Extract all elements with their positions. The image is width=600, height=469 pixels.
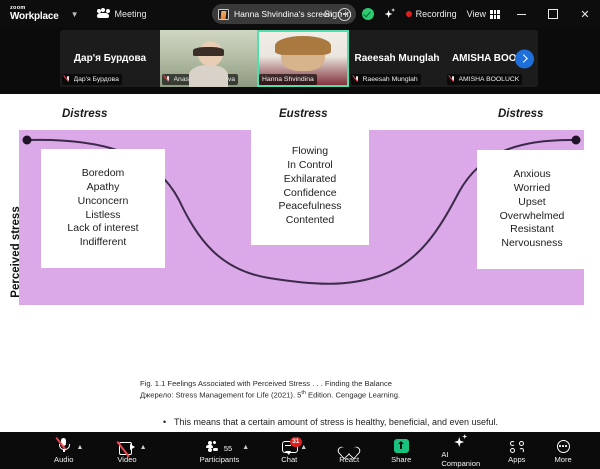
feeling-item: Upset — [518, 196, 545, 210]
feeling-item: Overwhelmed — [500, 210, 565, 224]
video-options-chevron-up-icon[interactable]: ▲ — [140, 444, 147, 451]
zone-label-center: Eustress — [279, 108, 328, 120]
curve-endpoint-left — [23, 136, 32, 145]
participants-control-group: 55 Participants ▲ — [200, 438, 250, 464]
feeling-item: Nervousness — [501, 237, 562, 251]
filmstrip-next-button[interactable] — [515, 49, 534, 68]
ellipsis-circle-icon — [557, 438, 570, 453]
zone-label-left: Distress — [62, 108, 107, 120]
chat-unread-badge: 31 — [290, 437, 302, 447]
tile-chip-name: Anastasiia Niesheva — [174, 76, 236, 83]
participants-options-chevron-up-icon[interactable]: ▲ — [242, 444, 249, 451]
share-label: Share — [391, 455, 411, 464]
maximize-button[interactable] — [542, 0, 564, 28]
feeling-item: Resistant — [510, 223, 554, 237]
shared-screen-slide: Distress Eustress Distress Perceived str… — [0, 94, 600, 432]
caption-line-2: Джерело: Stress Management for Life (202… — [140, 389, 470, 401]
audio-control-group: Audio ▲ — [54, 438, 83, 464]
audio-button[interactable]: Audio — [54, 438, 73, 464]
tile-chip-name: AMISHA BOOLUCK — [459, 76, 520, 83]
feeling-item: Indifferent — [80, 236, 127, 250]
ai-companion-label: AI Companion — [441, 450, 480, 468]
view-menu[interactable]: View — [467, 9, 500, 19]
recording-label: Recording — [416, 9, 457, 19]
camera-off-icon — [119, 438, 135, 453]
tile-display-name: Raeesah Munglah — [350, 53, 443, 64]
chat-button[interactable]: 31 Chat — [281, 438, 297, 464]
tile-display-name: Дар'я Бурдова — [70, 53, 150, 64]
close-button[interactable]: ✕ — [574, 0, 596, 28]
feeling-item: Anxious — [513, 168, 550, 182]
chat-control-group: 31 Chat ▲ — [281, 438, 307, 464]
more-label: More — [554, 455, 571, 464]
tile-name-chip: Дар'я Бурдова — [62, 74, 122, 85]
sparkle-icon — [453, 433, 468, 448]
share-button[interactable]: Share — [391, 438, 411, 464]
feelings-box-eustress: Flowing In Control Exhilarated Confidenc… — [251, 128, 369, 245]
apps-icon — [510, 438, 524, 453]
react-button[interactable]: React — [339, 438, 359, 464]
chat-icon: 31 — [282, 438, 297, 453]
screen-share-label: Hanna Shvindina's screen — [234, 9, 333, 19]
recording-indicator[interactable]: Recording — [406, 9, 457, 19]
participants-count: 55 — [224, 444, 232, 453]
minimize-button[interactable] — [510, 0, 532, 28]
zone-label-right: Distress — [498, 108, 543, 120]
tile-chip-name: Дар'я Бурдова — [74, 76, 119, 83]
ai-sparkle-icon[interactable] — [384, 8, 396, 20]
caption-source-suffix: Edition. Cengage Learning. — [306, 391, 400, 400]
grid-view-icon — [490, 10, 500, 19]
microphone-muted-icon — [65, 76, 71, 84]
feeling-item: Peacefulness — [278, 200, 341, 214]
video-control-group: Video ▲ — [117, 438, 146, 464]
meeting-controls-toolbar: Audio ▲ Video ▲ 55 Participants ▲ — [0, 432, 600, 469]
people-icon — [97, 9, 110, 20]
microphone-muted-icon — [58, 438, 69, 453]
feeling-item: Flowing — [292, 145, 328, 159]
shield-check-icon[interactable] — [362, 8, 374, 20]
zoom-workplace-logo: zoom Workplace — [10, 6, 59, 23]
chevron-down-icon[interactable]: ▼ — [71, 10, 79, 19]
feeling-item: In Control — [287, 159, 333, 173]
audio-label: Audio — [54, 455, 73, 464]
recording-dot-icon — [406, 11, 412, 17]
participants-icon: 55 — [207, 438, 232, 453]
video-tile[interactable]: Raeesah Munglah Raeesah Munglah — [349, 30, 445, 87]
feelings-box-distress-left: Boredom Apathy Unconcern Listless Lack o… — [41, 149, 165, 268]
participants-label: Participants — [200, 455, 240, 464]
feeling-item: Unconcern — [78, 195, 129, 209]
feeling-item: Listless — [85, 209, 120, 223]
title-bar: zoom Workplace ▼ Meeting Hanna Shvindina… — [0, 0, 600, 28]
more-button[interactable]: More — [554, 438, 571, 464]
video-tile-active-speaker[interactable]: Hanna Shvindina — [257, 30, 349, 87]
audio-options-chevron-up-icon[interactable]: ▲ — [76, 444, 83, 451]
title-bar-right-controls: Sign in Recording View ✕ — [324, 0, 596, 28]
video-button[interactable]: Video — [117, 438, 136, 464]
meeting-menu-label: Meeting — [115, 9, 147, 19]
tile-chip-name: Raeesah Munglah — [363, 76, 418, 83]
sign-in-button[interactable]: Sign in — [324, 9, 352, 19]
microphone-muted-icon — [450, 76, 456, 84]
feeling-item: Lack of interest — [67, 222, 138, 236]
tile-name-chip: AMISHA BOOLUCK — [447, 74, 522, 85]
feeling-item: Exhilarated — [284, 173, 337, 187]
zone-labels: Distress Eustress Distress — [0, 108, 600, 124]
microphone-muted-icon — [165, 76, 171, 84]
microphone-muted-icon — [354, 76, 360, 84]
screen-share-icon — [218, 9, 229, 20]
feeling-item: Apathy — [87, 181, 120, 195]
zoom-meeting-window: zoom Workplace ▼ Meeting Hanna Shvindina… — [0, 0, 600, 469]
tile-name-chip: Anastasiia Niesheva — [162, 74, 238, 85]
view-label: View — [467, 9, 486, 19]
chat-label: Chat — [281, 455, 297, 464]
feeling-item: Worried — [514, 182, 551, 196]
ai-companion-button[interactable]: AI Companion — [441, 433, 480, 468]
logo-workplace-text: Workplace — [10, 12, 59, 22]
caption-line-1: Fig. 1.1 Feelings Associated with Percei… — [140, 378, 470, 389]
share-screen-icon — [394, 438, 409, 453]
feeling-item: Boredom — [82, 167, 125, 181]
feeling-item: Contented — [286, 214, 334, 228]
chat-options-chevron-up-icon[interactable]: ▲ — [300, 444, 307, 451]
participants-button[interactable]: 55 Participants — [200, 438, 240, 464]
video-tile[interactable]: Anastasiia Niesheva — [160, 30, 257, 87]
apps-label: Apps — [508, 455, 525, 464]
feeling-item: Confidence — [283, 187, 336, 201]
meeting-menu[interactable]: Meeting — [97, 9, 147, 20]
heart-icon — [342, 438, 356, 453]
caption-source-prefix: Джерело: Stress Management for Life (202… — [140, 391, 301, 400]
feelings-box-distress-right: Anxious Worried Upset Overwhelmed Resist… — [477, 150, 587, 269]
apps-button[interactable]: Apps — [508, 438, 525, 464]
figure-caption: Fig. 1.1 Feelings Associated with Percei… — [140, 378, 470, 401]
participant-filmstrip[interactable]: Дар'я Бурдова Дар'я Бурдова Anastasiia N… — [60, 30, 538, 87]
video-tile[interactable]: Дар'я Бурдова Дар'я Бурдова — [60, 30, 160, 87]
tile-chip-name: Hanna Shvindina — [262, 76, 314, 83]
tile-name-chip: Raeesah Munglah — [351, 74, 421, 85]
curve-endpoint-right — [572, 136, 581, 145]
bullet-item: This means that a certain amount of stre… — [163, 416, 518, 429]
tile-name-chip: Hanna Shvindina — [259, 74, 317, 85]
